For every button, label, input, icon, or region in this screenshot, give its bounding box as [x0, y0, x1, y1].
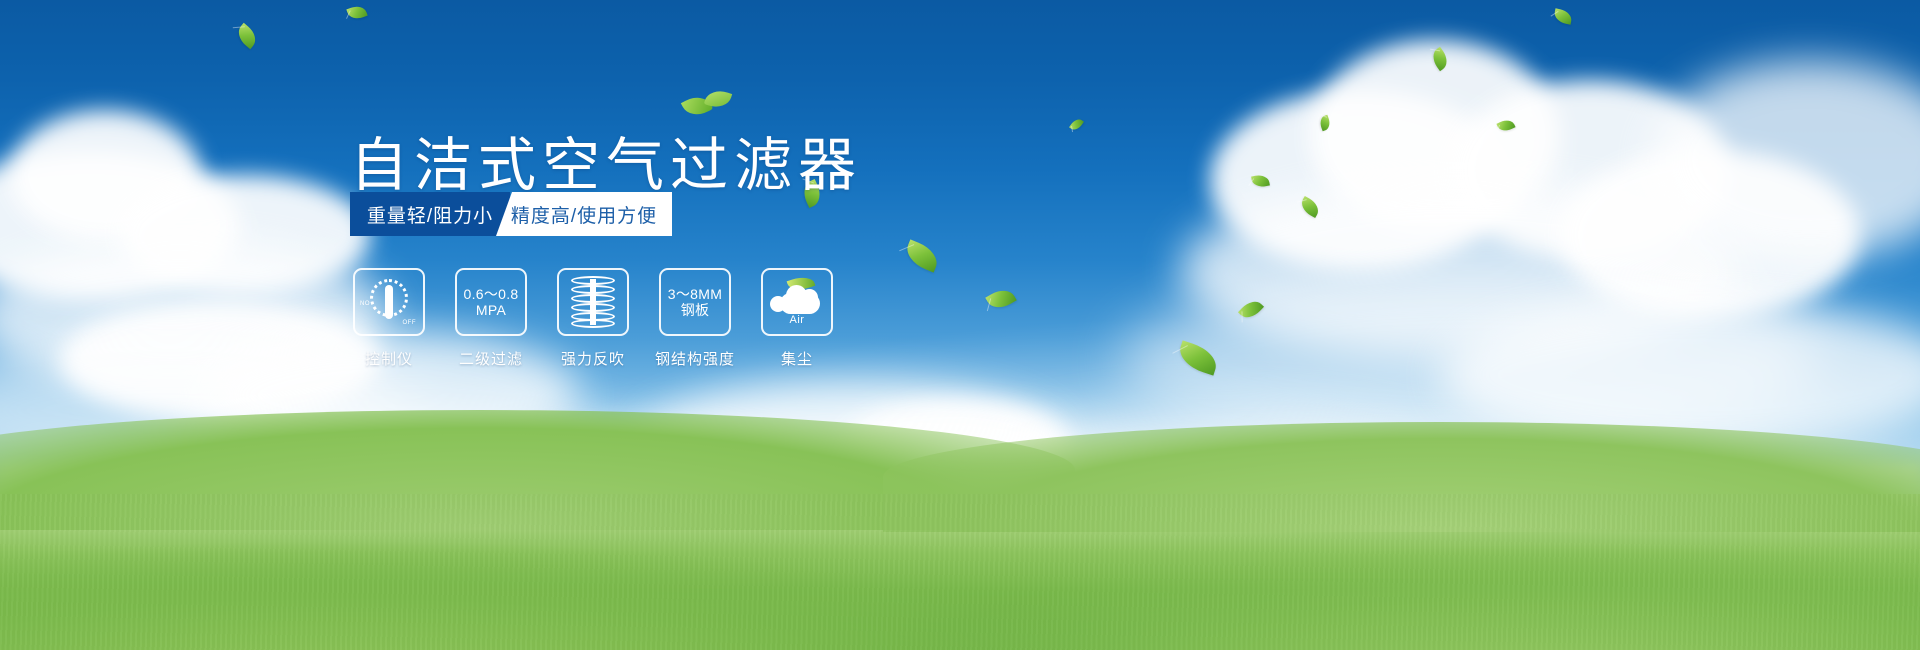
banner-content: 自洁式空气过滤器 重量轻/阻力小 精度高/使用方便 NO OFF	[0, 0, 1920, 650]
coil-spring-icon	[569, 276, 617, 328]
tab-precision-convenience[interactable]: 精度高/使用方便	[496, 192, 672, 236]
pressure-range-text: 0.6～0.8	[463, 286, 518, 302]
feature-tabs: 重量轻/阻力小 精度高/使用方便	[350, 192, 672, 236]
feature-label: 控制仪	[365, 348, 413, 369]
cloud-air-icon: Air	[768, 279, 826, 325]
feature-icon-list: NO OFF 控制仪 0.6～0.8 MPA 二级过滤	[350, 268, 836, 369]
tab-label: 精度高/使用方便	[511, 201, 657, 228]
feature-item-dust[interactable]: Air 集尘	[758, 268, 836, 369]
tab-label: 重量轻/阻力小	[367, 201, 493, 228]
air-label: Air	[768, 314, 826, 327]
steel-plate-text: 钢板	[681, 302, 710, 318]
feature-box: 3～8MM 钢板	[659, 268, 731, 336]
feature-label: 集尘	[781, 348, 813, 369]
tab-weight-resistance[interactable]: 重量轻/阻力小	[350, 192, 510, 236]
feature-label: 二级过滤	[459, 348, 523, 369]
product-hero-banner: 自洁式空气过滤器 重量轻/阻力小 精度高/使用方便 NO OFF	[0, 0, 1920, 650]
page-title: 自洁式空气过滤器	[350, 118, 862, 202]
feature-item-controller[interactable]: NO OFF 控制仪	[350, 268, 428, 369]
feature-box: NO OFF	[353, 268, 425, 336]
gauge-off-label: OFF	[403, 320, 417, 327]
feature-label: 钢结构强度	[655, 348, 735, 369]
feature-item-pressure[interactable]: 0.6～0.8 MPA 二级过滤	[452, 268, 530, 369]
pressure-unit-text: MPA	[476, 302, 506, 318]
feature-label: 强力反吹	[561, 348, 625, 369]
feature-item-blowback[interactable]: 强力反吹	[554, 268, 632, 369]
feature-box: 0.6～0.8 MPA	[455, 268, 527, 336]
feature-box	[557, 268, 629, 336]
gauge-no-label: NO	[360, 301, 370, 308]
gauge-controller-icon: NO OFF	[362, 277, 416, 327]
steel-thickness-text: 3～8MM	[668, 286, 722, 302]
feature-box: Air	[761, 268, 833, 336]
feature-item-steel[interactable]: 3～8MM 钢板 钢结构强度	[656, 268, 734, 369]
